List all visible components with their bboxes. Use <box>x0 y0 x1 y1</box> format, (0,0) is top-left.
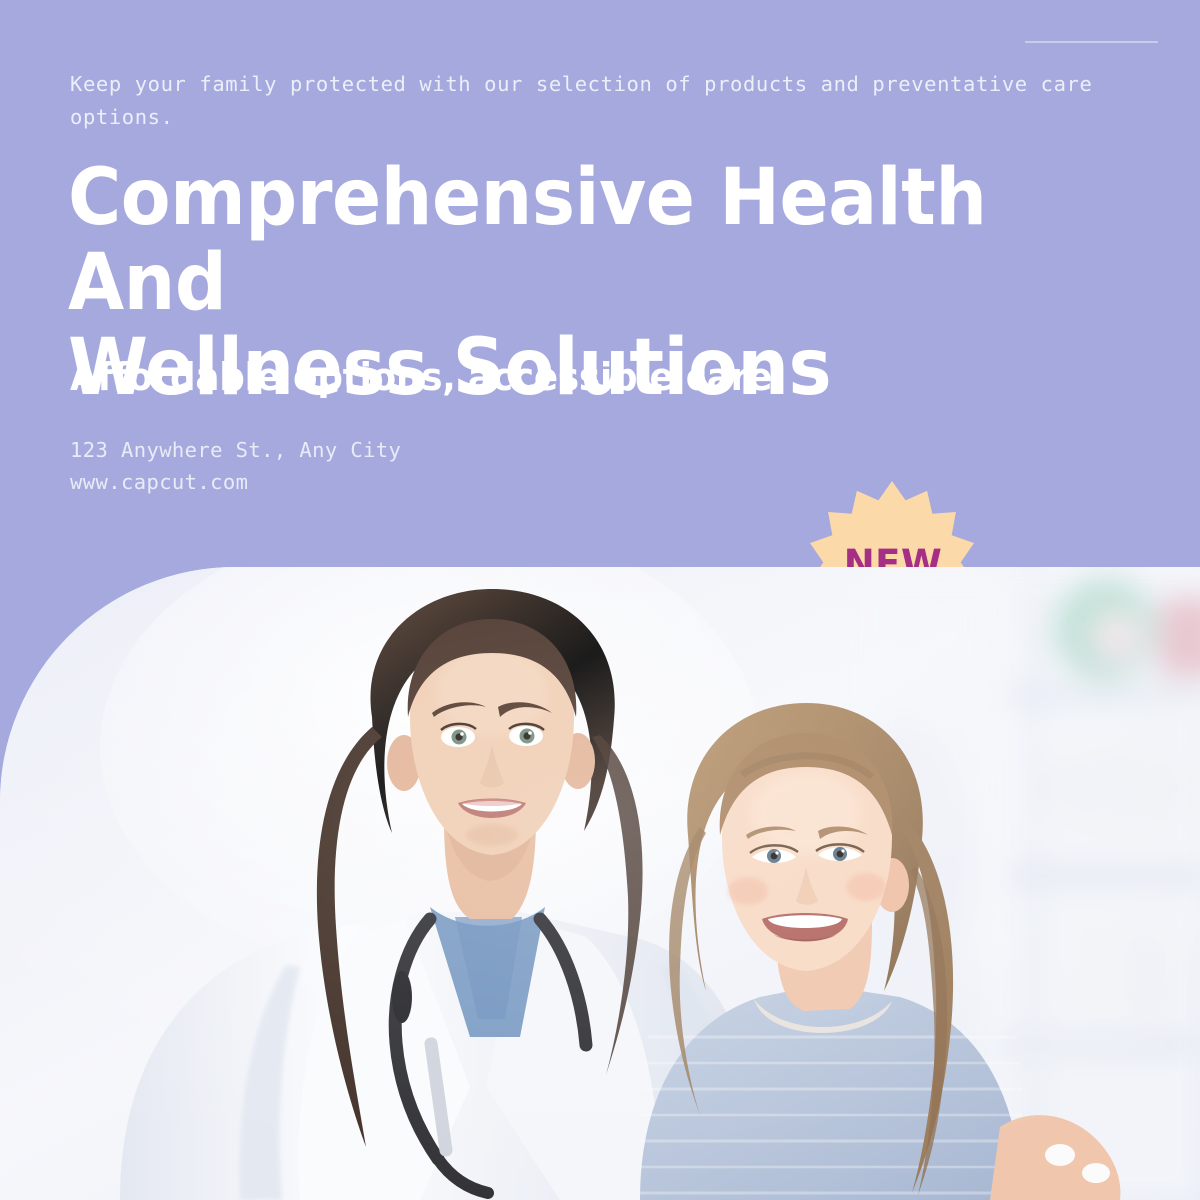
subheadline-text: Affordable options, accessible care <box>70 352 1010 402</box>
doctor-and-child-illustration <box>0 567 1200 1200</box>
poster-canvas: Keep your family protected with our sele… <box>0 0 1200 1200</box>
decorative-rule-icon <box>1025 41 1158 43</box>
hero-photo <box>0 567 1200 1200</box>
contact-address: 123 Anywhere St., Any City <box>70 434 401 466</box>
contact-website[interactable]: www.capcut.com <box>70 466 401 498</box>
tagline-text: Keep your family protected with our sele… <box>70 68 1130 134</box>
contact-block: 123 Anywhere St., Any City www.capcut.co… <box>70 434 401 498</box>
